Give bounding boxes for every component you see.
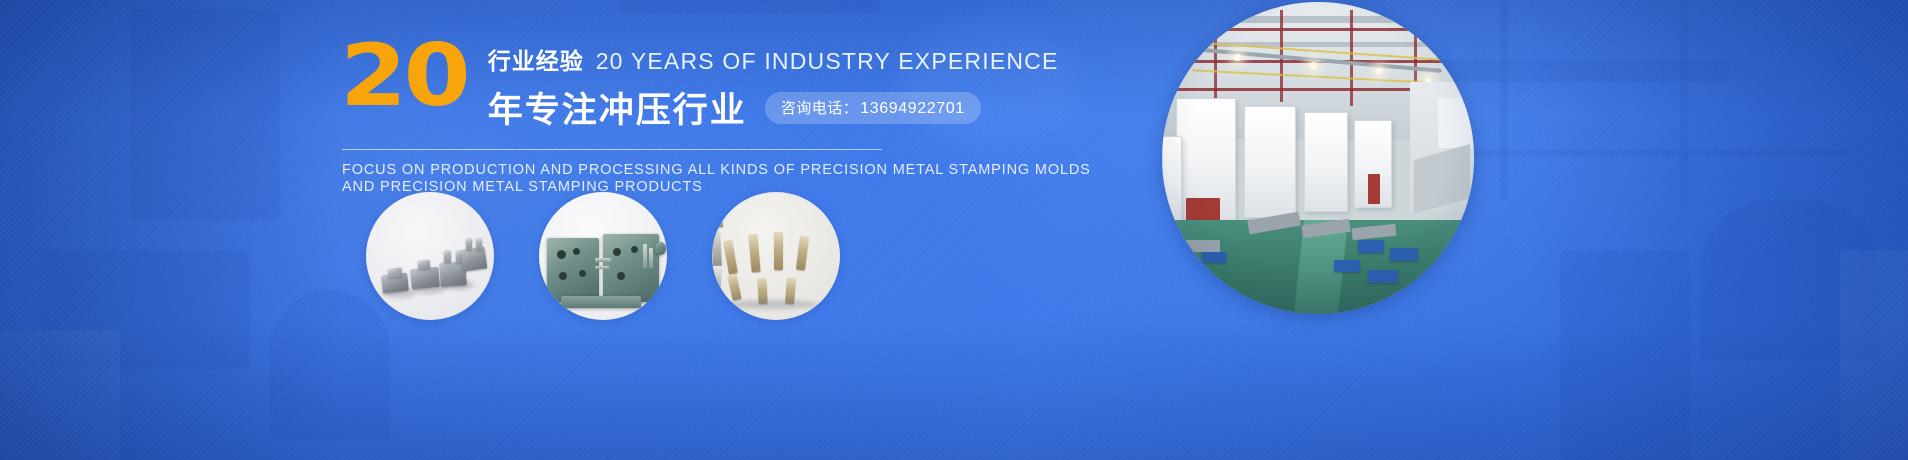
subtitle-row: 行业经验 20 YEARS OF INDUSTRY EXPERIENCE (488, 42, 1059, 76)
headline-text-group: 行业经验 20 YEARS OF INDUSTRY EXPERIENCE 年专注… (488, 34, 1059, 133)
photo-vignette (1162, 2, 1474, 314)
years-number: 20 (340, 40, 467, 114)
phone-label: 咨询电话： (781, 97, 859, 118)
headline-block: 20 行业经验 20 YEARS OF INDUSTRY EXPERIENCE … (340, 34, 960, 196)
main-headline-row: 年专注冲压行业 咨询电话： 13694922701 (488, 82, 1059, 133)
headline-divider (342, 149, 882, 150)
product-circle-pins[interactable] (712, 192, 840, 320)
description-block: FOCUS ON PRODUCTION AND PROCESSING ALL K… (342, 162, 960, 196)
main-headline-chinese: 年专注冲压行业 (488, 82, 747, 133)
promo-banner: 20 行业经验 20 YEARS OF INDUSTRY EXPERIENCE … (0, 0, 1908, 460)
product-circle-mold[interactable] (539, 192, 667, 320)
headline-row: 20 行业经验 20 YEARS OF INDUSTRY EXPERIENCE … (340, 34, 960, 133)
phone-badge[interactable]: 咨询电话： 13694922701 (765, 92, 981, 124)
factory-workshop-photo[interactable] (1162, 2, 1474, 314)
description-line-1: FOCUS ON PRODUCTION AND PROCESSING ALL K… (342, 162, 960, 179)
product-circle-connectors[interactable] (366, 192, 494, 320)
subtitle-chinese: 行业经验 (488, 42, 584, 76)
phone-number: 13694922701 (860, 100, 964, 118)
subtitle-english: 20 YEARS OF INDUSTRY EXPERIENCE (596, 48, 1059, 75)
